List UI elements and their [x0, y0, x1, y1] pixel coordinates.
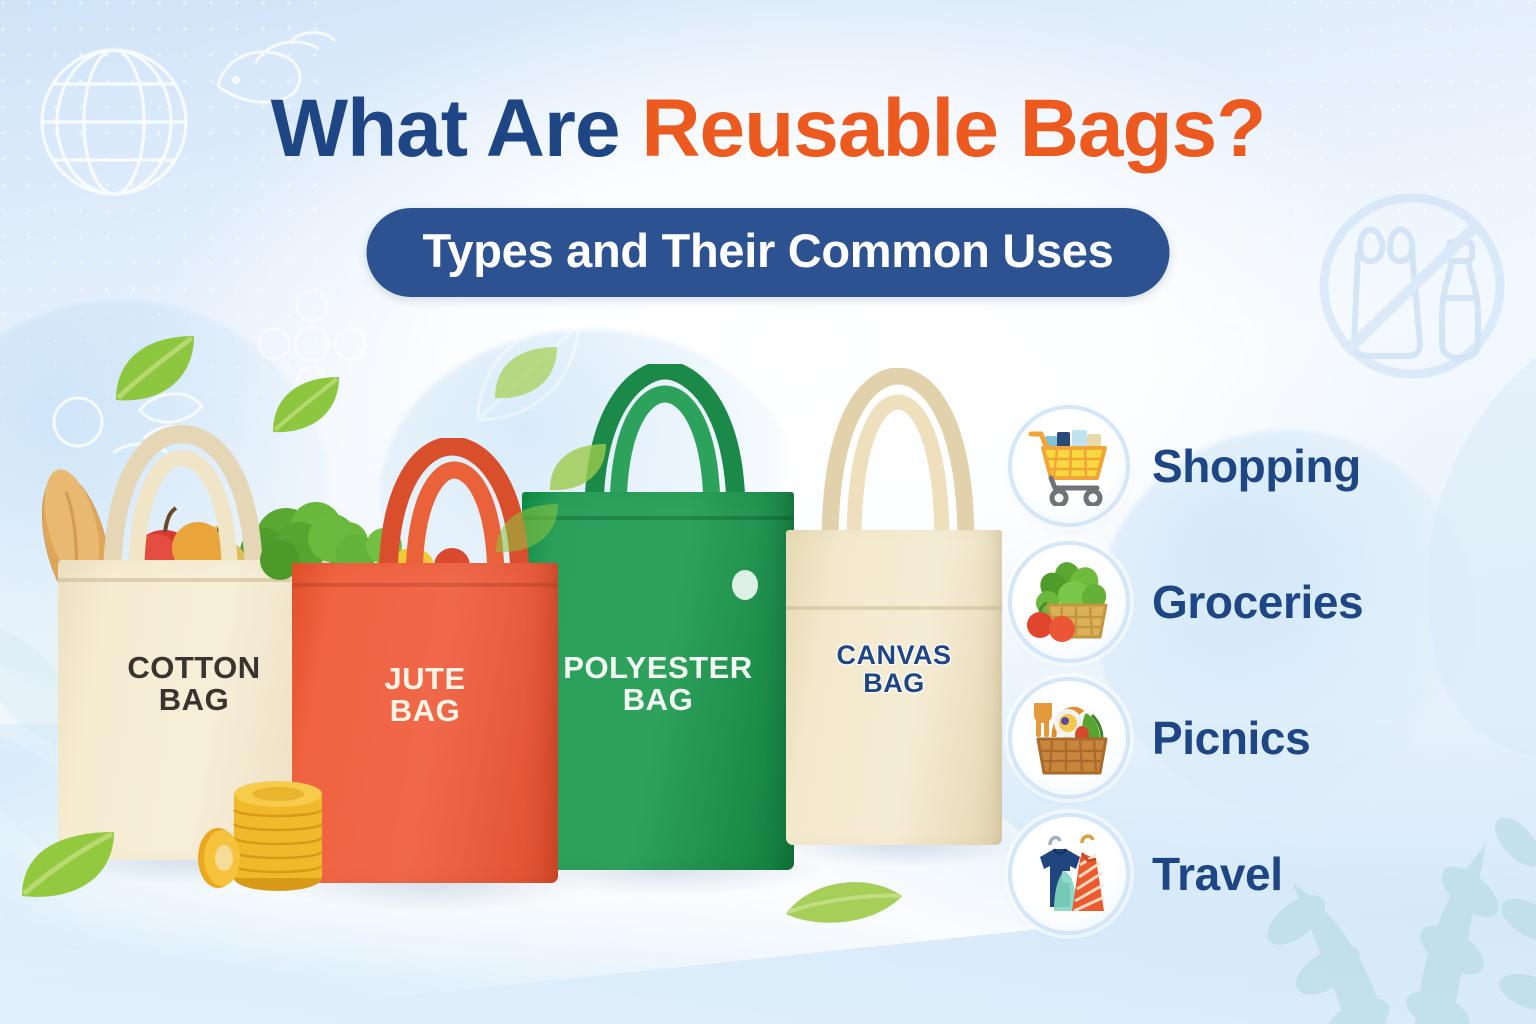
polyester-bag-label-line2: BAG	[522, 684, 794, 716]
polyester-bag-label: POLYESTER BAG	[522, 652, 794, 715]
tomato-icon	[1027, 612, 1053, 638]
polyester-bag-hem	[522, 516, 794, 520]
shopping-cart-icon	[1027, 426, 1111, 506]
polyester-bag-label-line1: POLYESTER	[522, 652, 794, 684]
page-title: What Are Reusable Bags?	[0, 88, 1536, 170]
picnics-icon-circle	[1008, 677, 1130, 799]
no-plastic-badge	[1308, 186, 1516, 386]
use-row-picnics[interactable]: Picnics	[1008, 670, 1363, 806]
canvas-bag-label-line2: BAG	[786, 670, 1002, 698]
use-label-picnics: Picnics	[1152, 711, 1310, 765]
use-row-groceries[interactable]: Groceries	[1008, 534, 1363, 670]
title-part-blue: What Are	[271, 83, 642, 174]
subtitle-pill: Types and Their Common Uses	[367, 208, 1170, 297]
floating-leaf-icon	[16, 826, 122, 906]
jute-bag-label-line1: JUTE	[292, 663, 558, 695]
floating-leaf-icon	[490, 342, 562, 406]
subtitle-text: Types and Their Common Uses	[423, 224, 1114, 277]
canvas-bag-hem	[786, 606, 1002, 610]
use-row-travel[interactable]: Travel	[1008, 806, 1363, 942]
travel-icon-circle	[1008, 813, 1130, 935]
floating-leaf-icon	[546, 440, 610, 498]
hanger-hook-icon	[1050, 838, 1060, 845]
use-label-travel: Travel	[1152, 847, 1283, 901]
gold-coin-stack-icon	[182, 766, 352, 896]
uses-list: Shopping	[1008, 398, 1363, 942]
canvas-bag[interactable]: CANVAS BAG	[786, 530, 1002, 845]
floating-leaf-icon	[780, 862, 908, 932]
tomato-icon	[1049, 616, 1075, 642]
floating-leaf-icon	[268, 372, 344, 440]
vegetable-basket-icon	[1024, 561, 1114, 643]
canvas-bag-label-line1: CANVAS	[786, 642, 1002, 670]
canvas-bag-handles	[812, 368, 984, 544]
shopping-icon-circle	[1008, 405, 1130, 527]
cart-contents-icon	[1045, 430, 1101, 448]
picnic-basket-icon	[1024, 697, 1114, 779]
cotton-bag-label-line1: COTTON	[58, 652, 330, 684]
single-coin-icon	[198, 828, 240, 888]
clothing-hanger-icon	[1024, 831, 1114, 917]
groceries-icon-circle	[1008, 541, 1130, 663]
use-label-groceries: Groceries	[1152, 575, 1363, 629]
jute-bag-label-line2: BAG	[292, 695, 558, 727]
use-label-shopping: Shopping	[1152, 439, 1361, 493]
title-part-orange: Reusable Bags?	[641, 83, 1265, 174]
polyester-bag[interactable]: POLYESTER BAG	[522, 492, 794, 870]
hanger-hook-icon	[1082, 836, 1093, 843]
cotton-bag-label-line2: BAG	[58, 684, 330, 716]
use-row-shopping[interactable]: Shopping	[1008, 398, 1363, 534]
infographic-poster: What Are Reusable Bags? Types and Their …	[0, 0, 1536, 1024]
polyester-bag-dot	[732, 570, 758, 600]
utensils-icon	[1034, 703, 1052, 737]
floating-leaf-icon	[492, 500, 562, 560]
jute-bag-label: JUTE BAG	[292, 663, 558, 726]
jute-bag-hem	[292, 583, 558, 587]
cotton-bag-label: COTTON BAG	[58, 652, 330, 715]
canvas-bag-label: CANVAS BAG	[786, 642, 1002, 697]
floating-leaf-icon	[110, 330, 200, 410]
